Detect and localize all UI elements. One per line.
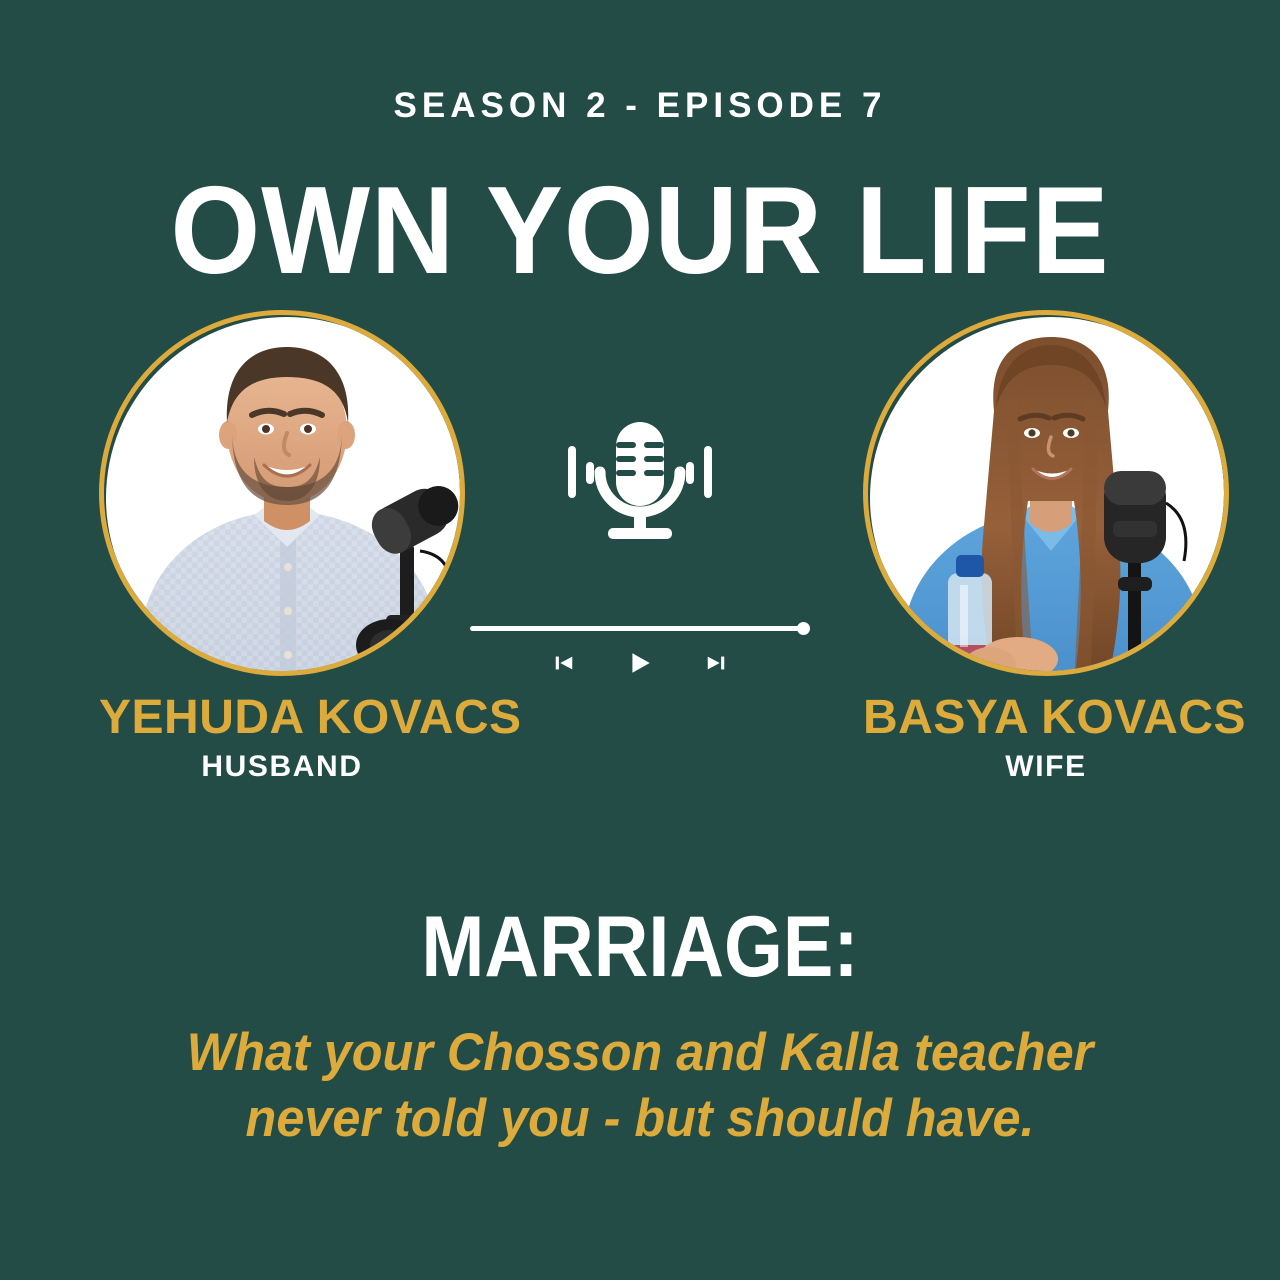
host-role-left: HUSBAND <box>99 752 465 782</box>
audio-player <box>470 420 810 680</box>
skip-next-icon[interactable] <box>703 650 729 676</box>
host-photo-left <box>104 315 460 671</box>
host-photo-right <box>868 315 1224 671</box>
player-controls <box>470 648 810 678</box>
host-portrait-right <box>863 310 1229 676</box>
host-name-left: YEHUDA KOVACS <box>99 694 465 743</box>
host-role-right: WIFE <box>863 752 1229 782</box>
host-name-block-right: BASYA KOVACS WIFE <box>863 694 1229 782</box>
progress-bar[interactable] <box>470 622 810 634</box>
microphone-icon <box>566 420 714 544</box>
episode-subtitle-line-2: never told you - but should have. <box>137 1086 1144 1152</box>
host-name-block-left: YEHUDA KOVACS HUSBAND <box>99 694 465 782</box>
host-name-right: BASYA KOVACS <box>863 694 1229 743</box>
season-episode-label: SEASON 2 - EPISODE 7 <box>0 88 1280 123</box>
host-portrait-left <box>99 310 465 676</box>
progress-track[interactable] <box>470 626 804 631</box>
skip-previous-icon[interactable] <box>551 650 577 676</box>
episode-subtitle-line-1: What your Chosson and Kalla teacher <box>137 1020 1144 1086</box>
episode-topic-subtitle: What your Chosson and Kalla teacher neve… <box>137 1020 1144 1151</box>
show-title: OWN YOUR LIFE <box>45 166 1235 297</box>
play-icon[interactable] <box>627 650 653 676</box>
progress-knob[interactable] <box>797 622 810 635</box>
episode-topic-title: MARRIAGE: <box>77 902 1203 992</box>
podcast-cover: SEASON 2 - EPISODE 7 OWN YOUR LIFE <box>0 0 1280 1280</box>
